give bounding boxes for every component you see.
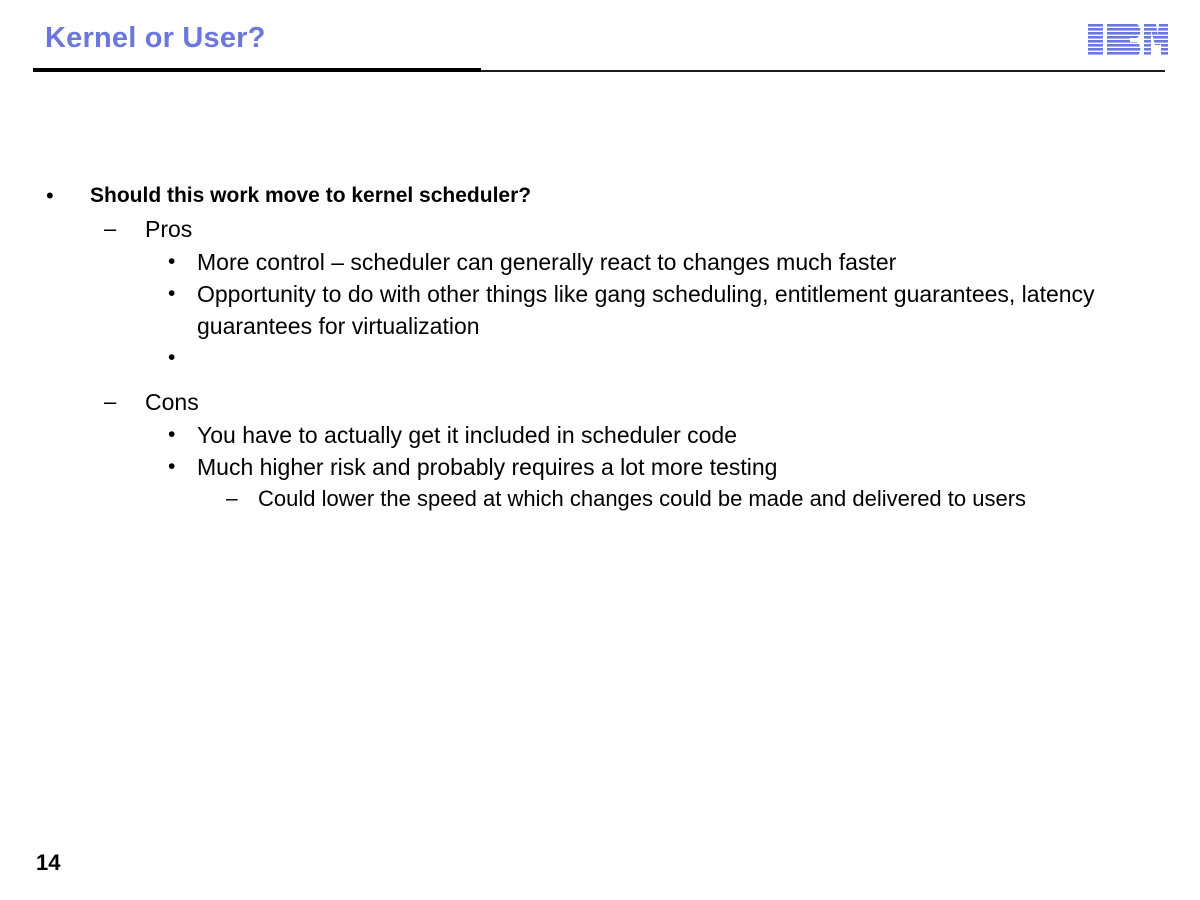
bullet-marker: • <box>168 419 175 451</box>
bullet-level3: • More control – scheduler can generally… <box>0 246 1200 278</box>
bullet-text: Opportunity to do with other things like… <box>197 278 1150 342</box>
bullet-level3-empty: • <box>0 342 1200 374</box>
bullet-marker: • <box>46 180 54 211</box>
bullet-text: Pros <box>145 213 1200 245</box>
header-rule-thick <box>33 68 481 72</box>
bullet-marker: • <box>168 278 175 310</box>
bullet-text: Cons <box>145 386 1200 418</box>
bullet-marker: – <box>226 483 238 515</box>
bullet-level2-pros: – Pros <box>0 213 1200 245</box>
bullet-text: You have to actually get it included in … <box>197 419 1150 451</box>
page-number: 14 <box>36 850 60 876</box>
bullet-marker: • <box>168 451 175 483</box>
bullet-marker: – <box>104 386 116 418</box>
bullet-marker: • <box>168 246 175 278</box>
bullet-level2-cons: – Cons <box>0 386 1200 418</box>
bullet-marker: – <box>104 213 116 245</box>
bullet-text: Should this work move to kernel schedule… <box>90 180 1200 211</box>
bullet-level3: • Opportunity to do with other things li… <box>0 278 1200 342</box>
bullet-level4: – Could lower the speed at which changes… <box>0 483 1200 515</box>
bullet-level1: • Should this work move to kernel schedu… <box>0 180 1200 211</box>
spacer <box>0 374 1200 386</box>
page-title: Kernel or User? <box>45 22 266 55</box>
slide-content: • Should this work move to kernel schedu… <box>0 180 1200 515</box>
bullet-marker: • <box>168 342 175 374</box>
ibm-logo <box>1088 24 1168 56</box>
bullet-level3: • Much higher risk and probably requires… <box>0 451 1200 483</box>
bullet-text: Much higher risk and probably requires a… <box>197 451 1150 483</box>
bullet-text: Could lower the speed at which changes c… <box>258 483 1120 515</box>
bullet-level3: • You have to actually get it included i… <box>0 419 1200 451</box>
bullet-text: More control – scheduler can generally r… <box>197 246 1150 278</box>
